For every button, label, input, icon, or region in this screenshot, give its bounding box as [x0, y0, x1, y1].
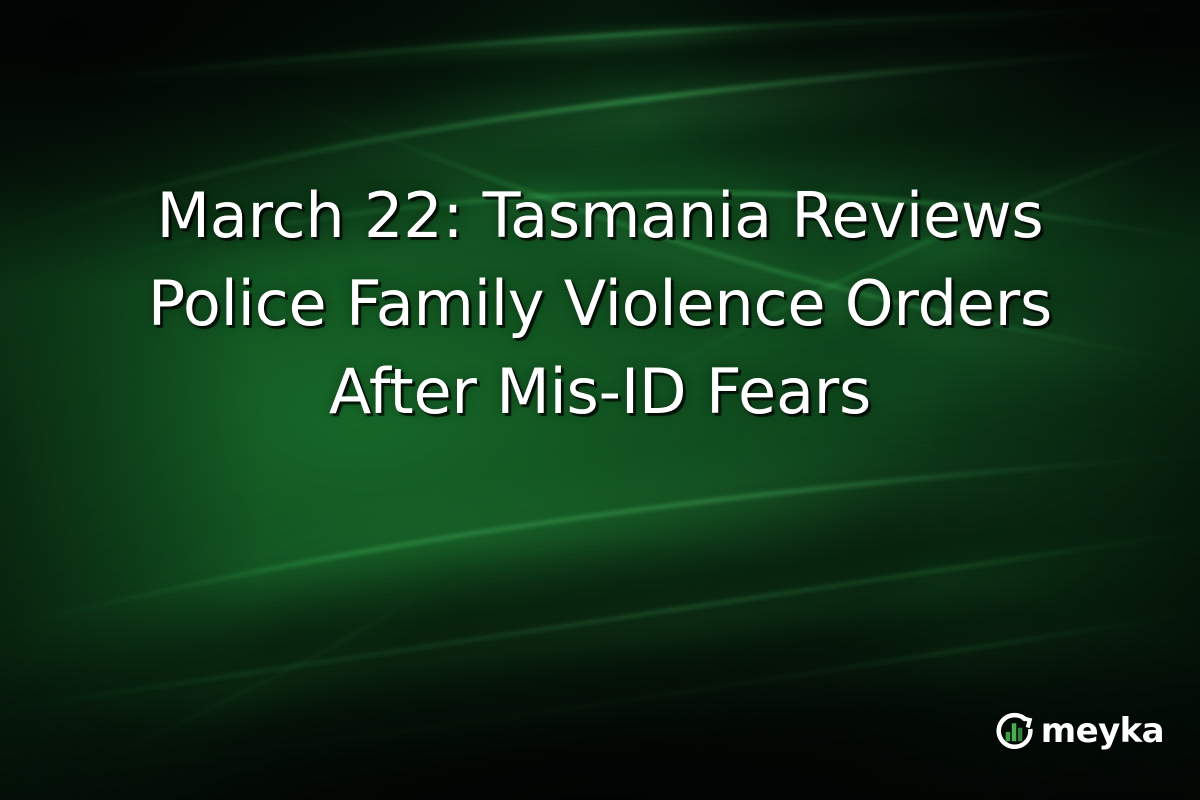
headline-line-1: March 22: Tasmania Reviews [40, 172, 1160, 260]
meyka-wordmark: meyka [1041, 714, 1164, 748]
bar-middle [1012, 723, 1016, 741]
headline-title: March 22: Tasmania Reviews Police Family… [0, 172, 1200, 436]
meyka-logo[interactable]: meyka [993, 709, 1164, 752]
bar-right [1018, 728, 1022, 741]
news-banner-card: March 22: Tasmania Reviews Police Family… [0, 0, 1200, 800]
meyka-ring-barchart-icon [993, 709, 1036, 752]
bar-left [1005, 732, 1009, 741]
headline-line-3: After Mis-ID Fears [40, 348, 1160, 436]
headline-line-2: Police Family Violence Orders [40, 260, 1160, 348]
